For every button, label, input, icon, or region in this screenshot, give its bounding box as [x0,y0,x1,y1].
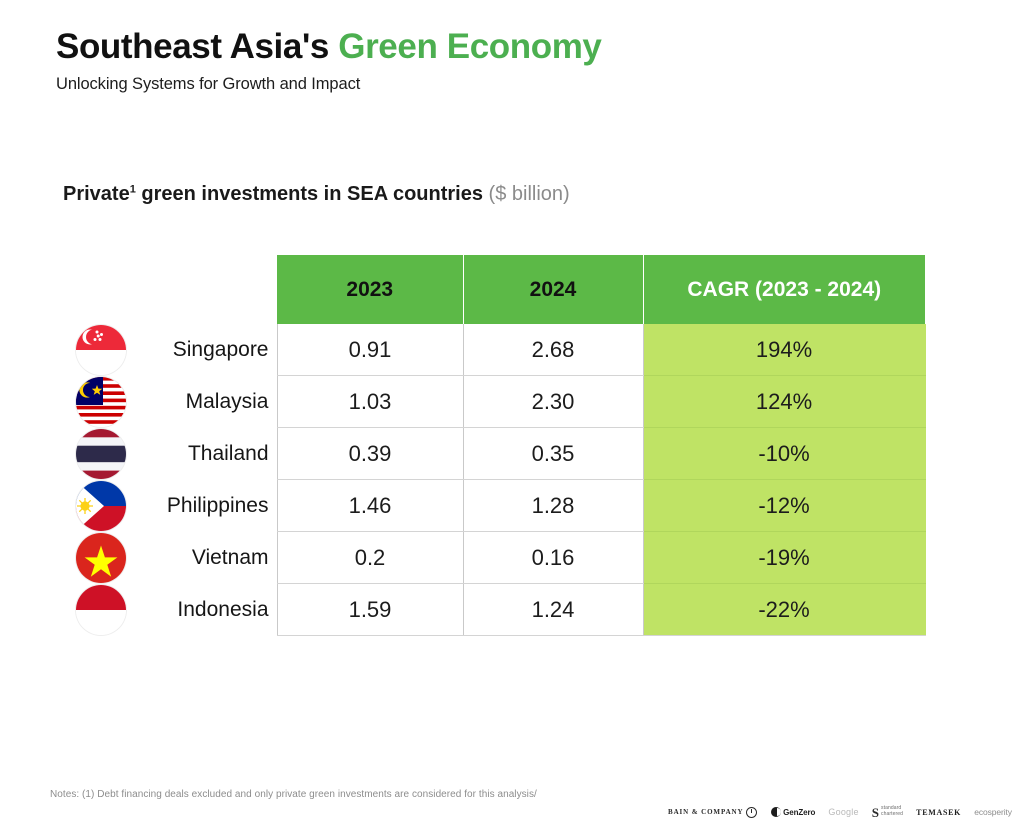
logo-standard-chartered: S standard chartered [872,806,903,819]
page-title-primary: Southeast Asia's [56,27,338,66]
logo-google: Google [828,807,858,817]
chart-heading: Private1 green investments in SEA countr… [63,183,570,206]
footnote: Notes: (1) Debt financing deals excluded… [50,789,537,800]
logo-standard-chartered-text: standard chartered [881,806,903,818]
flag-cell [63,532,139,584]
cell-cagr: -22% [643,584,925,636]
flag-vietnam-icon [76,533,126,583]
cell-2023: 1.46 [277,480,463,532]
cell-2024: 2.68 [463,324,643,376]
table-header-country-spacer [139,255,277,324]
logo-genzero-text: GenZero [783,808,815,817]
logo-google-text: Google [828,807,858,817]
logo-ecosperity: ecosperity [974,807,1012,817]
table-header-cagr: CAGR (2023 - 2024) [643,255,925,324]
page-title: Southeast Asia's Green Economy [56,28,956,67]
chart-heading-rest: green investments in SEA countries [136,183,489,205]
logo-temasek-text: TEMASEK [916,808,961,817]
cell-cagr: -19% [643,532,925,584]
table-row: Philippines 1.46 1.28 -12% [63,480,925,532]
country-label: Thailand [139,428,277,480]
flag-cell [63,324,139,376]
cell-2024: 0.35 [463,428,643,480]
chart-heading-unit: ($ billion) [489,183,570,205]
cell-2024: 2.30 [463,376,643,428]
cell-2023: 1.03 [277,376,463,428]
logo-sc-line2: chartered [881,811,903,817]
page-subtitle: Unlocking Systems for Growth and Impact [56,75,956,94]
flag-cell [63,376,139,428]
flag-thailand-icon [76,429,126,479]
standard-chartered-mark-icon: S [872,806,879,819]
flag-cell [63,428,139,480]
logo-bain: BAIN & COMPANY [668,807,757,818]
country-label: Singapore [139,324,277,376]
country-label: Philippines [139,480,277,532]
cell-2023: 0.39 [277,428,463,480]
table-header: 2023 2024 CAGR (2023 - 2024) [63,255,925,324]
table-body: Singapore 0.91 2.68 194% [63,324,925,636]
investments-table: 2023 2024 CAGR (2023 - 2024) [63,255,926,636]
cell-2024: 0.16 [463,532,643,584]
cell-cagr: 194% [643,324,925,376]
table-header-2024: 2024 [463,255,643,324]
table-row: Thailand 0.39 0.35 -10% [63,428,925,480]
table-header-row: 2023 2024 CAGR (2023 - 2024) [63,255,925,324]
table-row: Singapore 0.91 2.68 194% [63,324,925,376]
cell-cagr: -10% [643,428,925,480]
flag-philippines-icon [76,481,126,531]
cell-2023: 1.59 [277,584,463,636]
flag-cell [63,480,139,532]
logo-temasek: TEMASEK [916,808,961,817]
cell-2024: 1.24 [463,584,643,636]
table-header-flag-spacer [63,255,139,324]
chart-heading-main: Private [63,183,130,205]
flag-cell [63,584,139,636]
cell-2023: 0.2 [277,532,463,584]
table-row: Indonesia 1.59 1.24 -22% [63,584,925,636]
table-header-2023: 2023 [277,255,463,324]
page-title-accent: Green Economy [338,27,601,66]
investments-table-region: 2023 2024 CAGR (2023 - 2024) [63,255,943,636]
table-row: Vietnam 0.2 0.16 -19% [63,532,925,584]
cell-cagr: 124% [643,376,925,428]
logo-genzero: GenZero [771,807,816,817]
country-label: Vietnam [139,532,277,584]
cell-2024: 1.28 [463,480,643,532]
country-label: Indonesia [139,584,277,636]
table-row: Malaysia 1.03 2.30 124% [63,376,925,428]
flag-singapore-icon [76,325,126,375]
flag-malaysia-icon [76,377,126,427]
page-header: Southeast Asia's Green Economy Unlocking… [56,28,956,94]
country-label: Malaysia [139,376,277,428]
partner-logo-row: BAIN & COMPANY GenZero Google S standard… [668,798,1012,826]
bain-clock-icon [746,807,757,818]
flag-indonesia-icon [76,585,126,635]
logo-ecosperity-text: ecosperity [974,807,1012,817]
cell-cagr: -12% [643,480,925,532]
genzero-mark-icon [771,807,781,817]
cell-2023: 0.91 [277,324,463,376]
logo-bain-text: BAIN & COMPANY [668,808,743,816]
